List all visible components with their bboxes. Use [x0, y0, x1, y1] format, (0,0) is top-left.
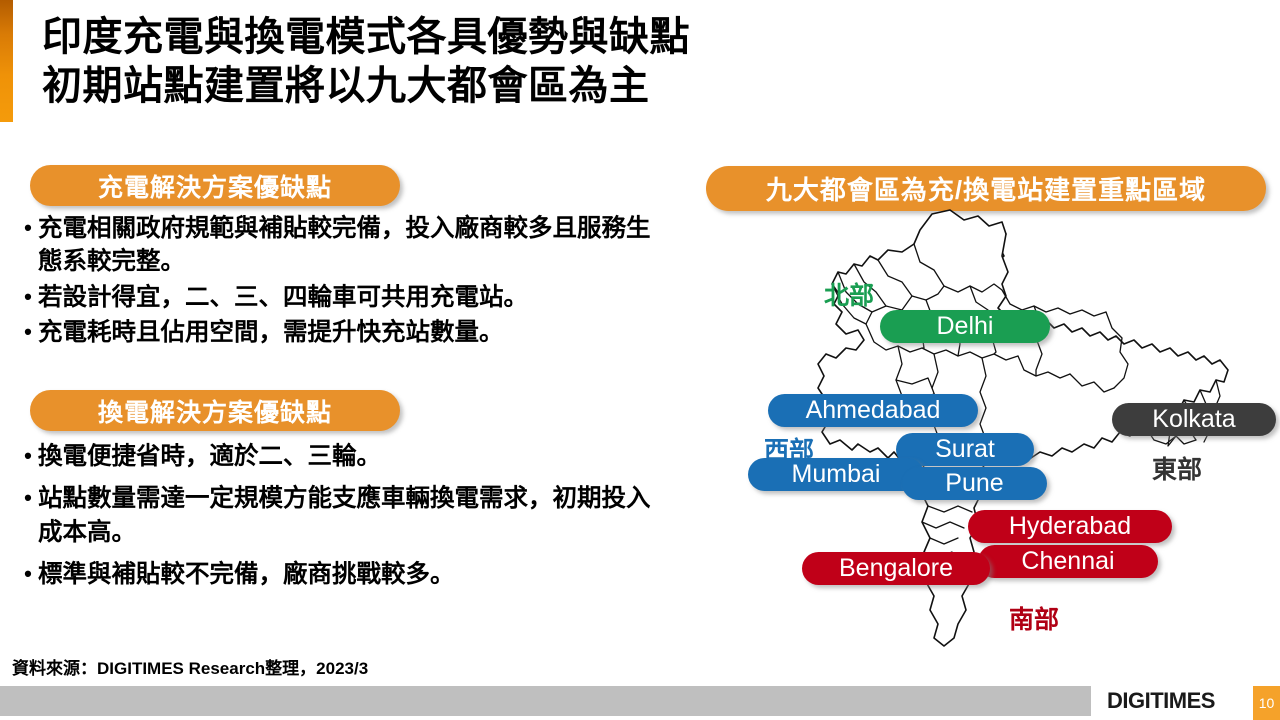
city-pill-mumbai[interactable]: Mumbai: [748, 458, 924, 491]
list-item-text: 標準與補貼較不完備，廠商挑戰較多。: [38, 558, 658, 591]
page-title-line-1: 印度充電與換電模式各具優勢與缺點: [42, 13, 922, 62]
city-pill-ahmedabad[interactable]: Ahmedabad: [768, 394, 978, 427]
page-number-badge: 10: [1253, 686, 1280, 720]
list-item-text: 充電耗時且佔用空間，需提升快充站數量。: [38, 316, 658, 349]
bullet-dot-icon: •: [18, 482, 38, 513]
region-label-east: 東部: [1152, 450, 1202, 486]
source-note: 資料來源：DIGITIMES Research整理，2023/3: [12, 654, 368, 679]
list-item: • 若設計得宜，二、三、四輪車可共用充電站。: [18, 281, 658, 314]
bullet-list-swapping: • 換電便捷省時，適於二、三輪。 • 站點數量需達一定規模方能支應車輛換電需求，…: [18, 440, 658, 600]
bullet-dot-icon: •: [18, 316, 38, 347]
section-header-charging: 充電解決方案優缺點: [30, 165, 400, 206]
city-pill-pune[interactable]: Pune: [902, 467, 1047, 500]
list-item-text: 若設計得宜，二、三、四輪車可共用充電站。: [38, 281, 658, 314]
region-label-north: 北部: [824, 276, 874, 312]
list-item: • 換電便捷省時，適於二、三輪。: [18, 440, 658, 473]
accent-bar: [0, 0, 13, 122]
list-item-text: 換電便捷省時，適於二、三輪。: [38, 440, 658, 473]
city-pill-kolkata[interactable]: Kolkata: [1112, 403, 1276, 436]
list-item: • 標準與補貼較不完備，廠商挑戰較多。: [18, 558, 658, 591]
list-item: • 充電耗時且佔用空間，需提升快充站數量。: [18, 316, 658, 349]
footer-bar: [0, 686, 1091, 716]
city-pill-delhi[interactable]: Delhi: [880, 310, 1050, 343]
page-title: 印度充電與換電模式各具優勢與缺點 初期站點建置將以九大都會區為主: [42, 13, 922, 111]
region-label-south: 南部: [1009, 600, 1059, 636]
list-item: • 充電相關政府規範與補貼較完備，投入廠商較多且服務生態系較完整。: [18, 212, 658, 279]
logo-text: DIGITIMES: [1107, 688, 1215, 714]
bullet-list-charging: • 充電相關政府規範與補貼較完備，投入廠商較多且服務生態系較完整。 • 若設計得…: [18, 212, 658, 351]
city-pill-chennai[interactable]: Chennai: [978, 545, 1158, 578]
city-pill-hyderabad[interactable]: Hyderabad: [968, 510, 1172, 543]
bullet-dot-icon: •: [18, 212, 38, 243]
india-map-panel: 北部 西部 東部 南部 Delhi Ahmedabad Surat Mumbai…: [706, 200, 1266, 660]
list-item-text: 充電相關政府規範與補貼較完備，投入廠商較多且服務生態系較完整。: [38, 212, 658, 279]
page-title-line-2: 初期站點建置將以九大都會區為主: [42, 62, 922, 111]
digitimes-logo: DIGITIMES: [1107, 688, 1215, 714]
bullet-dot-icon: •: [18, 440, 38, 471]
bullet-dot-icon: •: [18, 281, 38, 312]
bullet-dot-icon: •: [18, 558, 38, 589]
list-item-text: 站點數量需達一定規模方能支應車輛換電需求，初期投入成本高。: [38, 482, 658, 549]
section-header-swapping: 換電解決方案優缺點: [30, 390, 400, 431]
city-pill-bengalore[interactable]: Bengalore: [802, 552, 990, 585]
list-item: • 站點數量需達一定規模方能支應車輛換電需求，初期投入成本高。: [18, 482, 658, 549]
